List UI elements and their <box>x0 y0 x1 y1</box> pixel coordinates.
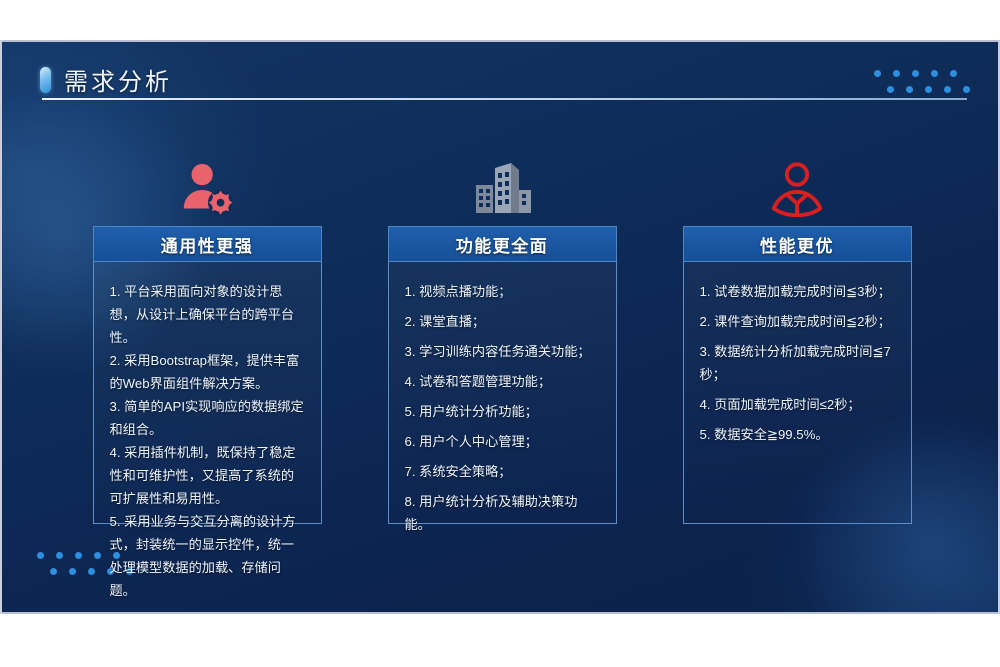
dot <box>887 86 894 93</box>
list-item: 5. 采用业务与交互分离的设计方式，封装统一的显示控件，统一处理模型数据的加载、… <box>110 510 305 602</box>
businessman-outline-icon <box>683 148 912 222</box>
feature-card-performance: 性能更优 1. 试卷数据加载完成时间≦3秒； 2. 课件查询加载完成时间≦2秒；… <box>683 148 912 524</box>
page-title: 需求分析 <box>64 62 172 97</box>
dot <box>912 70 919 77</box>
dot <box>69 568 76 575</box>
feature-list: 1. 视频点播功能； 2. 课堂直播； 3. 学习训练内容任务通关功能； 4. … <box>405 280 600 536</box>
card-body: 1. 视频点播功能； 2. 课堂直播； 3. 学习训练内容任务通关功能； 4. … <box>388 262 617 524</box>
card-title: 通用性更强 <box>93 226 322 262</box>
dot <box>37 552 44 559</box>
dot <box>950 70 957 77</box>
header-divider <box>42 98 967 100</box>
dot <box>94 552 101 559</box>
dot <box>944 86 951 93</box>
list-item: 3. 简单的API实现响应的数据绑定和组合。 <box>110 395 305 441</box>
slide-header: 需求分析 <box>40 62 172 97</box>
list-item: 4. 采用插件机制，既保持了稳定性和可维护性，又提高了系统的可扩展性和易用性。 <box>110 441 305 510</box>
list-item: 2. 课堂直播； <box>405 310 600 333</box>
list-item: 6. 用户个人中心管理； <box>405 430 600 453</box>
list-item: 3. 数据统计分析加载完成时间≦7秒； <box>700 340 895 386</box>
dot <box>925 86 932 93</box>
dot <box>50 568 57 575</box>
feature-card-row: 通用性更强 1. 平台采用面向对象的设计思想，从设计上确保平台的跨平台性。 2.… <box>2 148 1000 524</box>
list-item: 3. 学习训练内容任务通关功能； <box>405 340 600 363</box>
dot <box>874 70 881 77</box>
card-body: 1. 平台采用面向对象的设计思想，从设计上确保平台的跨平台性。 2. 采用Boo… <box>93 262 322 524</box>
dot <box>963 86 970 93</box>
dot <box>906 86 913 93</box>
dot <box>56 552 63 559</box>
card-title: 性能更优 <box>683 226 912 262</box>
slide-canvas: 需求分析 <box>0 40 1000 614</box>
list-item: 2. 课件查询加载完成时间≦2秒； <box>700 310 895 333</box>
card-title: 功能更全面 <box>388 226 617 262</box>
list-item: 5. 数据安全≧99.5%。 <box>700 423 895 446</box>
list-item: 1. 平台采用面向对象的设计思想，从设计上确保平台的跨平台性。 <box>110 280 305 349</box>
feature-list: 1. 平台采用面向对象的设计思想，从设计上确保平台的跨平台性。 2. 采用Boo… <box>110 280 305 602</box>
dot-row <box>874 70 970 77</box>
dot <box>893 70 900 77</box>
list-item: 5. 用户统计分析功能； <box>405 400 600 423</box>
feature-card-generality: 通用性更强 1. 平台采用面向对象的设计思想，从设计上确保平台的跨平台性。 2.… <box>93 148 322 524</box>
list-item: 4. 页面加载完成时间≤2秒； <box>700 393 895 416</box>
feature-list: 1. 试卷数据加载完成时间≦3秒； 2. 课件查询加载完成时间≦2秒； 3. 数… <box>700 280 895 446</box>
list-item: 8. 用户统计分析及辅助决策功能。 <box>405 490 600 536</box>
card-body: 1. 试卷数据加载完成时间≦3秒； 2. 课件查询加载完成时间≦2秒； 3. 数… <box>683 262 912 524</box>
dot <box>931 70 938 77</box>
list-item: 2. 采用Bootstrap框架，提供丰富的Web界面组件解决方案。 <box>110 349 305 395</box>
list-item: 1. 试卷数据加载完成时间≦3秒； <box>700 280 895 303</box>
feature-card-functionality: 功能更全面 1. 视频点播功能； 2. 课堂直播； 3. 学习训练内容任务通关功… <box>388 148 617 524</box>
dot <box>88 568 95 575</box>
pill-bullet-icon <box>40 67 51 93</box>
dot <box>75 552 82 559</box>
list-item: 1. 视频点播功能； <box>405 280 600 303</box>
list-item: 7. 系统安全策略； <box>405 460 600 483</box>
dot-row <box>887 86 970 93</box>
user-settings-icon <box>93 148 322 222</box>
list-item: 4. 试卷和答题管理功能； <box>405 370 600 393</box>
office-buildings-icon <box>388 148 617 222</box>
dot-grid-top-right <box>874 70 970 93</box>
